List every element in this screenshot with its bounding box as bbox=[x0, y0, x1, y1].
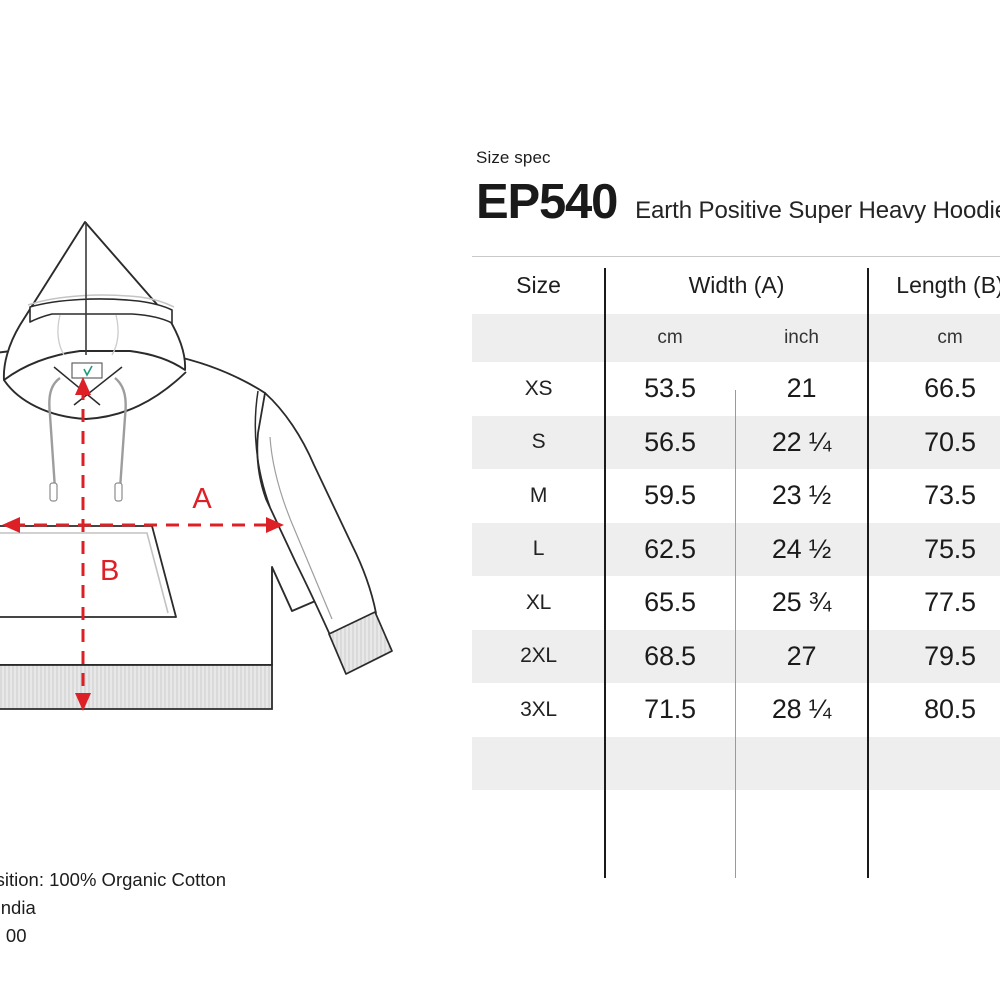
hoodie-drawcord-tip-left bbox=[50, 483, 57, 501]
hoodie-sleeve-right bbox=[257, 393, 376, 635]
cell-empty bbox=[868, 790, 1000, 844]
spec-title-row: EP540 Earth Positive Super Heavy Hoodie bbox=[476, 178, 1000, 227]
spec-product-name: Earth Positive Super Heavy Hoodie bbox=[635, 197, 1000, 225]
product-info-origin: Origin: India bbox=[0, 894, 296, 922]
header-length: Length (B) bbox=[868, 257, 1000, 314]
cell-length-cm: 79.5 bbox=[868, 630, 1000, 684]
table-filler-row bbox=[472, 737, 1000, 791]
cell-size: L bbox=[472, 523, 605, 577]
cell-width-cm: 71.5 bbox=[605, 683, 735, 737]
header-size: Size bbox=[472, 257, 605, 314]
cell-length-cm: 66.5 bbox=[868, 362, 1000, 416]
size-spec-panel: Size spec EP540 Earth Positive Super Hea… bbox=[472, 0, 1000, 1000]
cell-width-in: 22 ¼ bbox=[735, 416, 868, 470]
cell-length-cm: 73.5 bbox=[868, 469, 1000, 523]
table-group-header-row: Size Width (A) Length (B) bbox=[472, 257, 1000, 314]
cell-length-cm: 70.5 bbox=[868, 416, 1000, 470]
size-spec-table: Size Width (A) Length (B) cm inch cm XS5… bbox=[472, 257, 1000, 844]
unit-width-cm: cm bbox=[605, 314, 735, 362]
cell-length-cm: 77.5 bbox=[868, 576, 1000, 630]
table-row: XS53.52166.5 bbox=[472, 362, 1000, 416]
cell-length-cm: 75.5 bbox=[868, 523, 1000, 577]
cell-width-cm: 56.5 bbox=[605, 416, 735, 470]
column-divider-cm-inch bbox=[735, 390, 736, 878]
cell-length-cm: 80.5 bbox=[868, 683, 1000, 737]
spec-kicker-label: Size spec bbox=[476, 148, 551, 168]
cell-size: XL bbox=[472, 576, 605, 630]
cell-width-in: 27 bbox=[735, 630, 868, 684]
table-row: L62.524 ½75.5 bbox=[472, 523, 1000, 577]
hoodie-body-group bbox=[0, 222, 392, 709]
cell-size: XS bbox=[472, 362, 605, 416]
cell-empty bbox=[472, 737, 605, 791]
cell-width-in: 21 bbox=[735, 362, 868, 416]
cell-empty bbox=[735, 737, 868, 791]
cell-width-in: 28 ¼ bbox=[735, 683, 868, 737]
cell-width-cm: 68.5 bbox=[605, 630, 735, 684]
measure-label-b: B bbox=[100, 555, 119, 587]
column-divider-width-length bbox=[867, 268, 869, 878]
unit-width-inch: inch bbox=[735, 314, 868, 362]
cell-empty bbox=[472, 790, 605, 844]
hoodie-hem-rib bbox=[0, 665, 272, 709]
table-units-row: cm inch cm bbox=[472, 314, 1000, 362]
header-width: Width (A) bbox=[605, 257, 868, 314]
cell-size: M bbox=[472, 469, 605, 523]
table-row: 2XL68.52779.5 bbox=[472, 630, 1000, 684]
unit-length-cm: cm bbox=[868, 314, 1000, 362]
cell-empty bbox=[605, 737, 735, 791]
cell-width-cm: 53.5 bbox=[605, 362, 735, 416]
cell-width-cm: 59.5 bbox=[605, 469, 735, 523]
cell-empty bbox=[605, 790, 735, 844]
cell-width-in: 25 ¾ bbox=[735, 576, 868, 630]
cell-empty bbox=[868, 737, 1000, 791]
hoodie-technical-drawing: A B bbox=[0, 215, 410, 760]
measure-label-a: A bbox=[192, 483, 212, 515]
table-filler-row bbox=[472, 790, 1000, 844]
table-row: 3XL71.528 ¼80.5 bbox=[472, 683, 1000, 737]
cell-width-in: 23 ½ bbox=[735, 469, 868, 523]
hoodie-drawcord-tip-right bbox=[115, 483, 122, 501]
hoodie-kangaroo-pocket bbox=[0, 526, 176, 617]
cell-width-cm: 62.5 bbox=[605, 523, 735, 577]
cell-width-cm: 65.5 bbox=[605, 576, 735, 630]
product-info-article: Art. 091 00 bbox=[0, 922, 296, 950]
spec-product-code: EP540 bbox=[476, 178, 617, 227]
cell-empty bbox=[735, 790, 868, 844]
product-info-composition: Composition: 100% Organic Cotton bbox=[0, 866, 296, 894]
table-row: S56.522 ¼70.5 bbox=[472, 416, 1000, 470]
garment-diagram-panel: A B bbox=[0, 0, 460, 1000]
table-row: M59.523 ½73.5 bbox=[472, 469, 1000, 523]
table-row: XL65.525 ¾77.5 bbox=[472, 576, 1000, 630]
cell-width-in: 24 ½ bbox=[735, 523, 868, 577]
product-info-block: Composition: 100% Organic Cotton Origin:… bbox=[0, 866, 296, 950]
column-divider-size-width bbox=[604, 268, 606, 878]
cell-size: 2XL bbox=[472, 630, 605, 684]
cell-size: 3XL bbox=[472, 683, 605, 737]
unit-size-blank bbox=[472, 314, 605, 362]
cell-size: S bbox=[472, 416, 605, 470]
size-spec-table-body: XS53.52166.5S56.522 ¼70.5M59.523 ½73.5L6… bbox=[472, 362, 1000, 844]
